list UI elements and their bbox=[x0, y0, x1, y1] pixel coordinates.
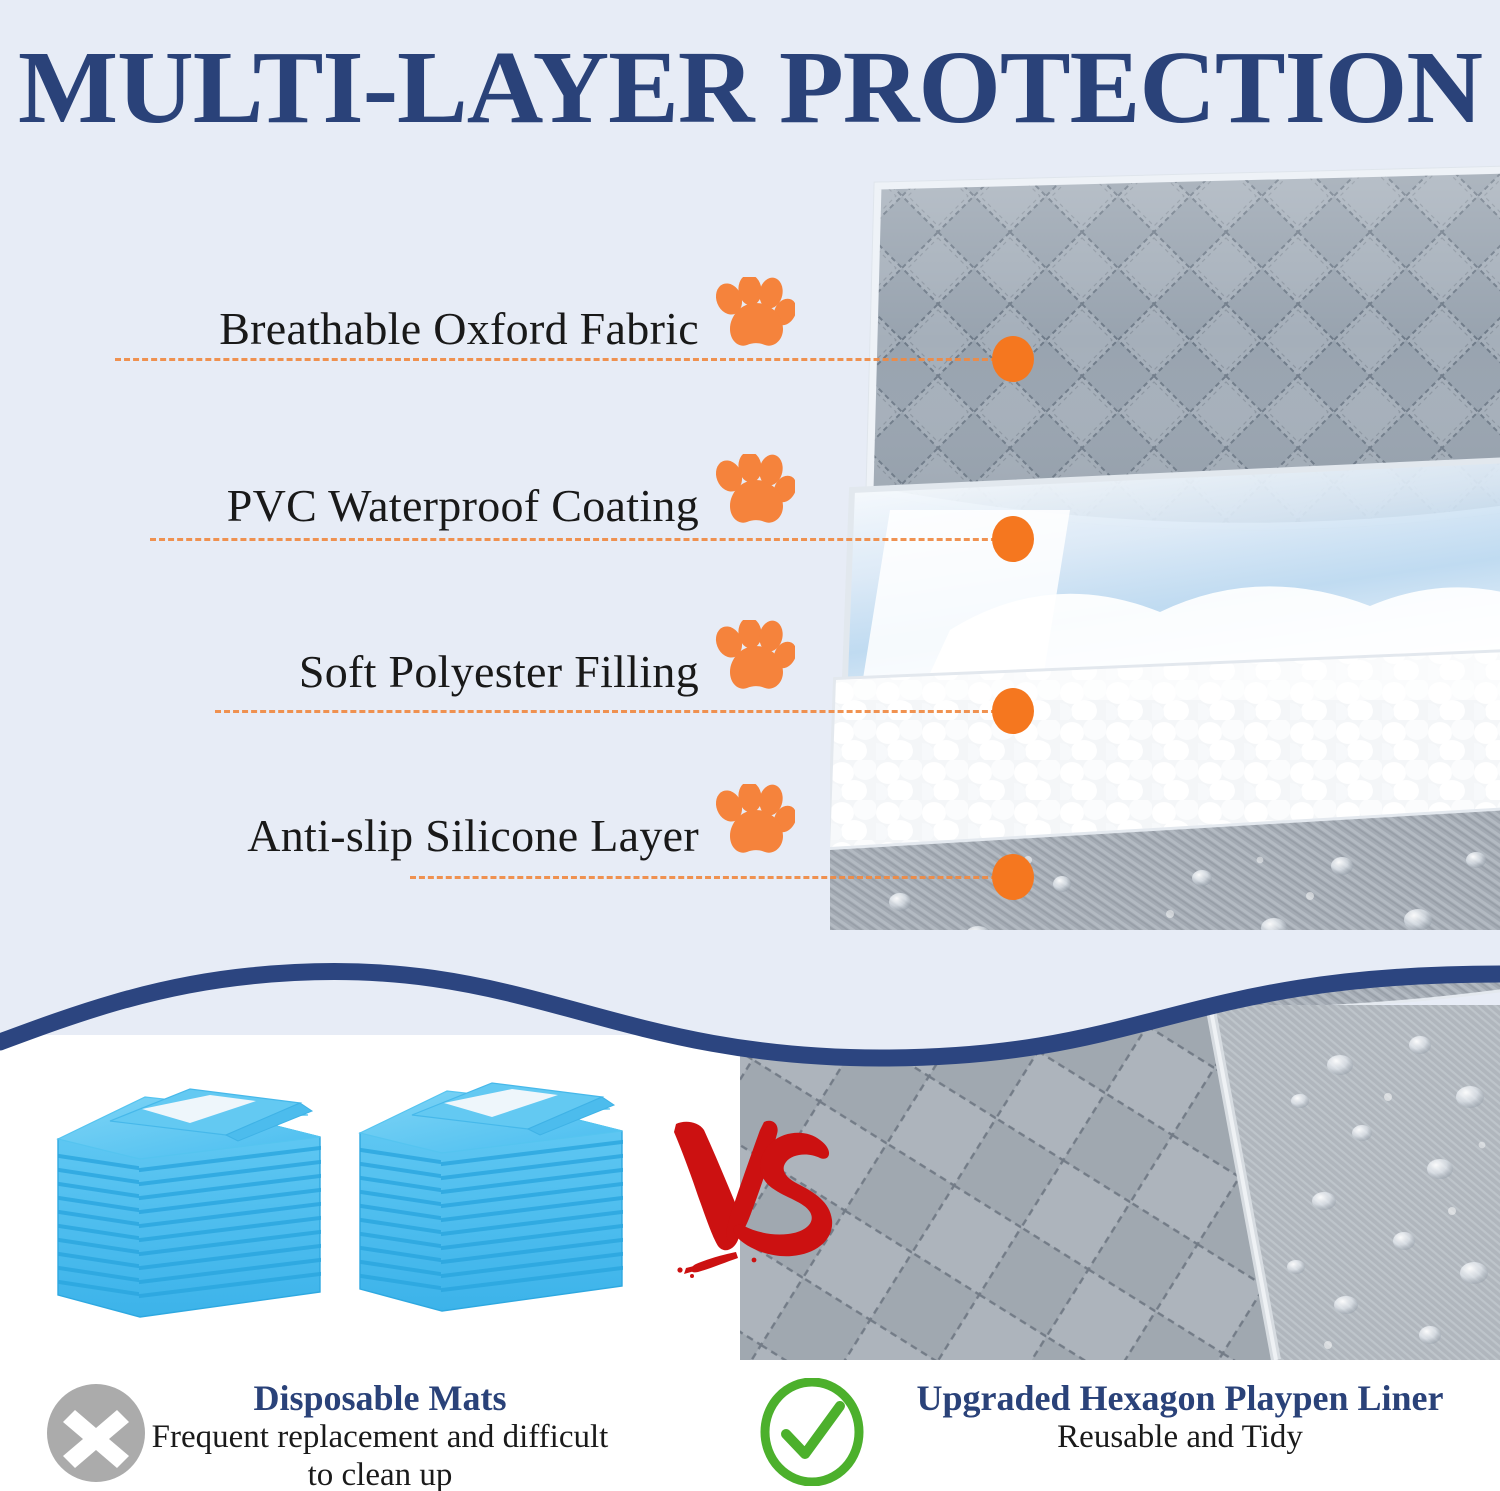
top-panel: MULTI-LAYER PROTECTION bbox=[0, 0, 1500, 1035]
hexagon-liner-caption: Upgraded Hexagon Playpen Liner Reusable … bbox=[880, 1378, 1480, 1456]
feature-label: Breathable Oxford Fabric bbox=[219, 303, 699, 355]
vs-graphic bbox=[668, 1118, 838, 1278]
disposable-mats-title: Disposable Mats bbox=[150, 1378, 610, 1418]
disposable-mats-caption: Disposable Mats Frequent replacement and… bbox=[150, 1378, 610, 1491]
disposable-mats-subtitle: Frequent replacement and difficult to cl… bbox=[150, 1418, 610, 1491]
connector-line-1 bbox=[115, 358, 1015, 361]
feature-row-pvc-coating: PVC Waterproof Coating bbox=[95, 462, 795, 532]
feature-label: PVC Waterproof Coating bbox=[227, 480, 699, 532]
feature-row-polyester-filling: Soft Polyester Filling bbox=[95, 628, 795, 698]
infographic-canvas: MULTI-LAYER PROTECTION bbox=[0, 0, 1500, 1491]
wave-divider bbox=[0, 930, 1500, 1090]
connector-line-3 bbox=[215, 710, 1015, 713]
paw-icon bbox=[711, 620, 795, 694]
layer-marker-dot-1 bbox=[992, 336, 1034, 382]
connector-line-4 bbox=[410, 876, 1015, 879]
paw-icon bbox=[711, 277, 795, 351]
connector-line-2 bbox=[150, 538, 1015, 541]
paw-icon bbox=[711, 454, 795, 528]
layer-marker-dot-3 bbox=[992, 688, 1034, 734]
layer-marker-dot-2 bbox=[992, 516, 1034, 562]
page-title: MULTI-LAYER PROTECTION bbox=[0, 36, 1500, 140]
x-icon bbox=[45, 1382, 147, 1484]
check-icon bbox=[758, 1378, 866, 1486]
feature-row-silicone-layer: Anti-slip Silicone Layer bbox=[95, 792, 795, 862]
layer-marker-dot-4 bbox=[992, 854, 1034, 900]
hexagon-liner-subtitle: Reusable and Tidy bbox=[880, 1418, 1480, 1456]
paw-icon bbox=[711, 784, 795, 858]
feature-row-oxford-fabric: Breathable Oxford Fabric bbox=[95, 285, 795, 355]
layer-stack-illustration bbox=[830, 160, 1500, 1020]
feature-label: Soft Polyester Filling bbox=[299, 646, 699, 698]
hexagon-liner-title: Upgraded Hexagon Playpen Liner bbox=[880, 1378, 1480, 1418]
feature-label: Anti-slip Silicone Layer bbox=[247, 810, 699, 862]
